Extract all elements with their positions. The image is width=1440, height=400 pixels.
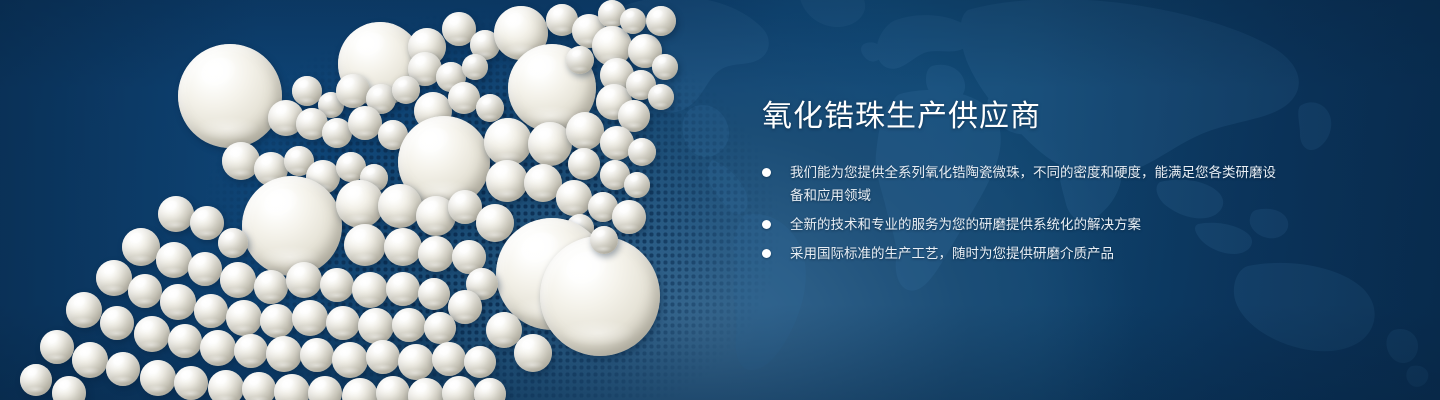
bullet-dot-icon [762, 168, 771, 177]
hero-banner: 氧化锆珠生产供应商 我们能为您提供全系列氧化锆陶瓷微珠，不同的密度和硬度，能满足… [0, 0, 1440, 400]
banner-text-block: 氧化锆珠生产供应商 我们能为您提供全系列氧化锆陶瓷微珠，不同的密度和硬度，能满足… [762, 100, 1282, 265]
feature-text: 全新的技术和专业的服务为您的研磨提供系统化的解决方案 [790, 217, 1141, 232]
feature-list: 我们能为您提供全系列氧化锆陶瓷微珠，不同的密度和硬度，能满足您各类研磨设备和应用… [762, 161, 1282, 265]
feature-list-item: 全新的技术和专业的服务为您的研磨提供系统化的解决方案 [762, 213, 1282, 236]
feature-text: 我们能为您提供全系列氧化锆陶瓷微珠，不同的密度和硬度，能满足您各类研磨设备和应用… [790, 165, 1276, 203]
bullet-dot-icon [762, 220, 771, 229]
bullet-dot-icon [762, 249, 771, 258]
feature-text: 采用国际标准的生产工艺，随时为您提供研磨介质产品 [790, 246, 1114, 261]
feature-list-item: 我们能为您提供全系列氧化锆陶瓷微珠，不同的密度和硬度，能满足您各类研磨设备和应用… [762, 161, 1282, 207]
feature-list-item: 采用国际标准的生产工艺，随时为您提供研磨介质产品 [762, 242, 1282, 265]
banner-title: 氧化锆珠生产供应商 [762, 100, 1282, 133]
